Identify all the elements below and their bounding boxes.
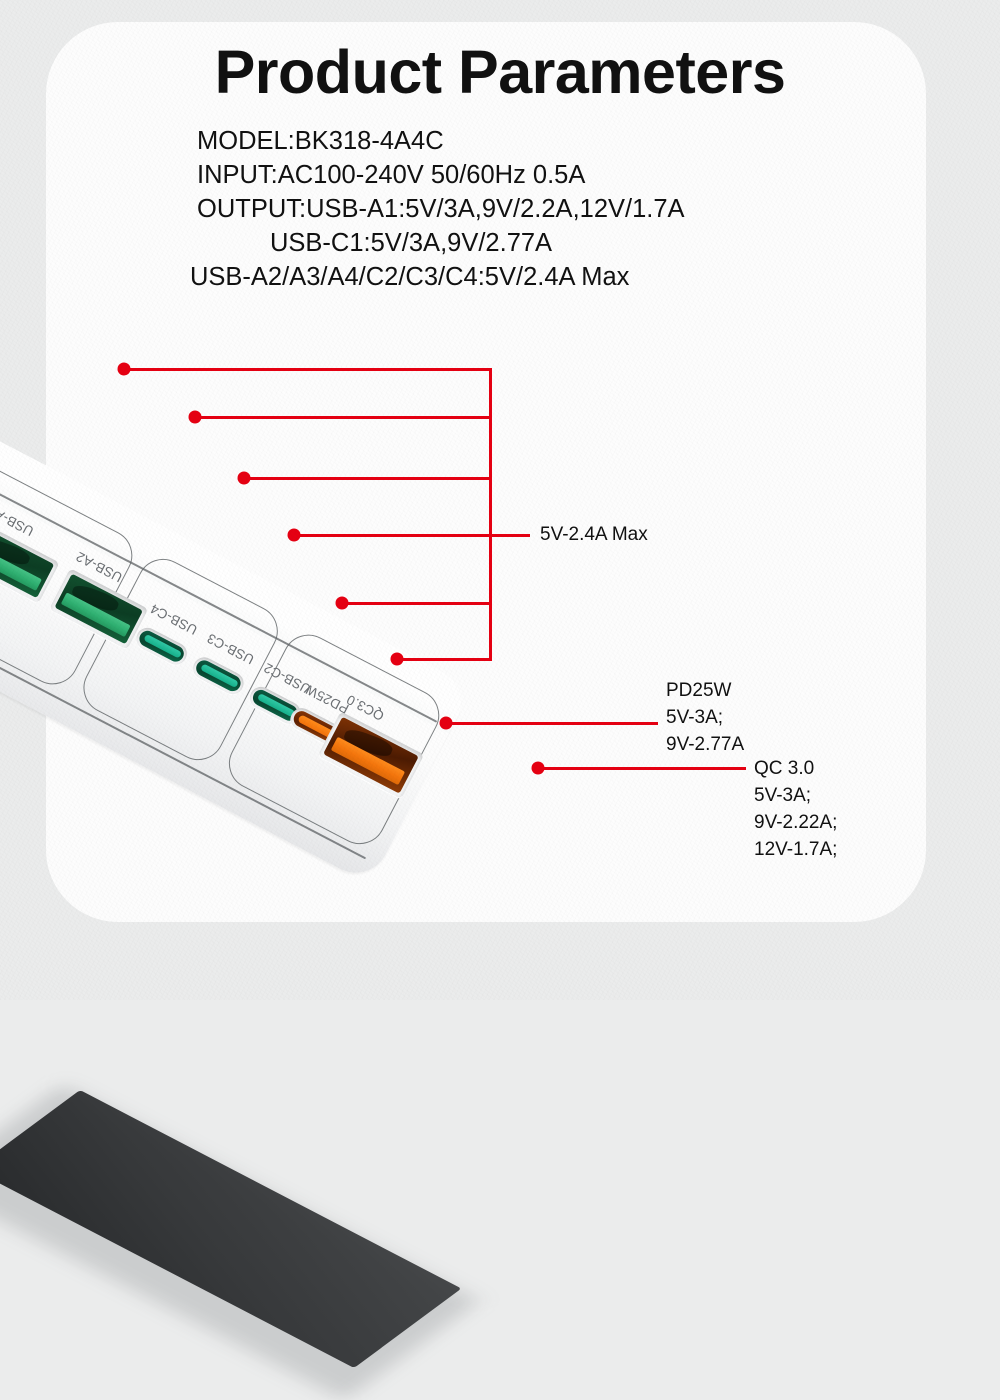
charging-station-body: USB-A4 USB-A3 USB-A2 [0,392,473,884]
spec-line-input: INPUT:AC100-240V 50/60Hz 0.5A [197,158,685,192]
page-root: Product Parameters MODEL:BK318-4A4C INPU… [0,0,1000,1000]
page-title: Product Parameters [0,42,1000,103]
spec-line-model: MODEL:BK318-4A4C [197,124,685,158]
spec-block: MODEL:BK318-4A4C INPUT:AC100-240V 50/60H… [197,124,685,294]
spec-line-output-rest: USB-A2/A3/A4/C2/C3/C4:5V/2.4A Max [190,260,685,294]
spec-line-output-a1: OUTPUT:USB-A1:5V/3A,9V/2.2A,12V/1.7A [197,192,685,226]
charging-station-illustration: USB-A4 USB-A3 USB-A2 [0,300,720,1000]
spec-line-output-c1: USB-C1:5V/3A,9V/2.77A [197,226,685,260]
